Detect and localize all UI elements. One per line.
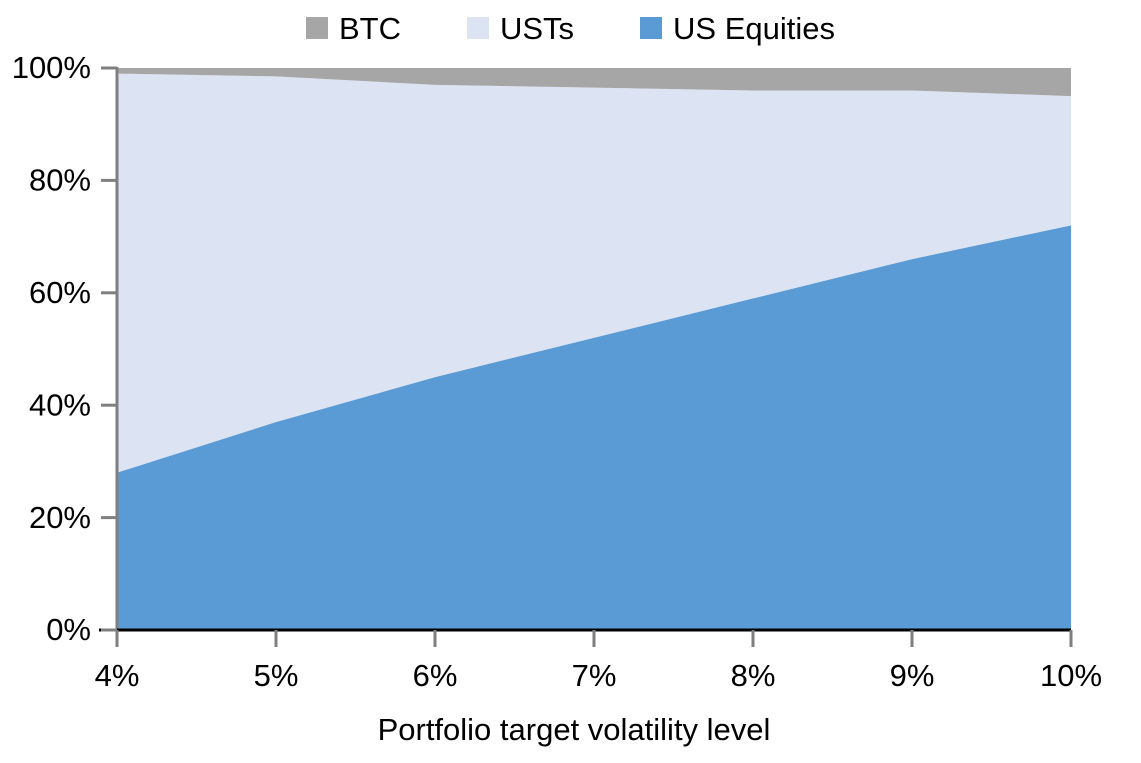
chart-canvas: 0%20%40%60%80%100% 4%5%6%7%8%9%10% Portf… <box>0 0 1141 763</box>
x-tick-label: 4% <box>95 658 140 693</box>
y-tick-label: 0% <box>46 612 91 647</box>
x-tick-label: 7% <box>572 658 617 693</box>
x-tick-label: 9% <box>890 658 935 693</box>
y-axis-ticks: 0%20%40%60%80%100% <box>12 50 117 647</box>
x-tick-label: 5% <box>254 658 299 693</box>
x-axis-title: Portfolio target volatility level <box>378 712 771 747</box>
x-tick-label: 8% <box>731 658 776 693</box>
y-tick-label: 40% <box>29 387 91 422</box>
y-tick-label: 60% <box>29 275 91 310</box>
y-tick-label: 20% <box>29 500 91 535</box>
x-axis-ticks: 4%5%6%7%8%9%10% <box>95 630 1102 693</box>
area-series-group <box>117 68 1071 630</box>
y-tick-label: 80% <box>29 163 91 198</box>
x-tick-label: 10% <box>1040 658 1102 693</box>
stacked-area-chart: BTC USTs US Equities 0%20%40%60%80%100% … <box>0 0 1141 763</box>
y-tick-label: 100% <box>12 50 91 85</box>
x-tick-label: 6% <box>413 658 458 693</box>
